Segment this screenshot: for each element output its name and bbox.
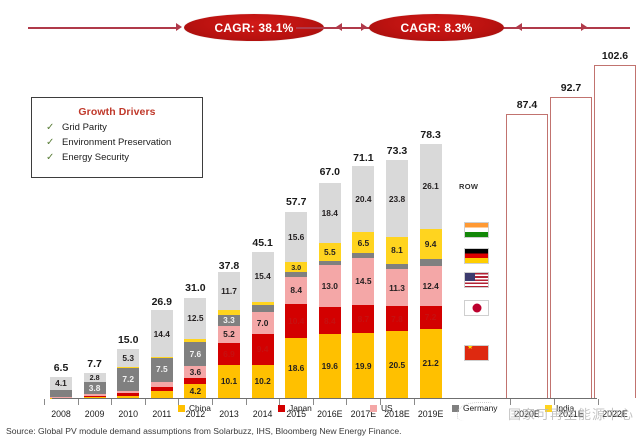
segment-value-label: 11.7 (221, 287, 237, 295)
segment-value-label: 14.5 (355, 277, 371, 285)
x-axis-line (52, 398, 597, 399)
bar-segment-2014-japan[interactable]: 9.4 (252, 334, 274, 365)
bar-2019E[interactable]: 21.27.212.49.426.1 (420, 144, 442, 398)
bar-2011[interactable]: 7.514.4 (151, 311, 173, 398)
bar-segment-2016E-india[interactable]: 5.5 (319, 243, 341, 261)
bar-segment-2013-row[interactable]: 11.7 (218, 272, 240, 310)
segment-value-label: 9.4 (425, 240, 437, 248)
segment-value-label: 3.3 (223, 316, 235, 324)
segment-value-label: 8.7 (358, 315, 370, 323)
bar-2016E[interactable]: 19.68.413.05.518.4 (319, 181, 341, 398)
segment-value-label: 10.4 (288, 317, 304, 325)
segment-value-label: 7.0 (257, 319, 269, 327)
segment-value-label: 20.5 (389, 361, 405, 369)
legend-item-us[interactable]: US (370, 403, 393, 413)
bar-segment-2015-row[interactable]: 15.6 (285, 212, 307, 263)
bar-segment-2018E-china[interactable]: 20.5 (386, 331, 408, 398)
watermark-swirl-icon (457, 402, 492, 421)
future-bar-2021E[interactable] (550, 97, 592, 398)
bar-total-2012: 31.0 (165, 282, 225, 294)
segment-value-label: 19.6 (322, 362, 338, 370)
bar-segment-2012-china[interactable]: 4.2 (184, 384, 206, 398)
bar-segment-2018E-germany[interactable] (386, 264, 408, 270)
bar-2017E[interactable]: 19.98.714.56.520.4 (352, 167, 374, 398)
legend-label-japan: Japan (289, 403, 312, 413)
segment-value-label: 3.6 (190, 368, 202, 376)
bar-segment-2011-row[interactable]: 14.4 (151, 310, 173, 357)
segment-value-label: 5.2 (223, 330, 235, 338)
segment-value-label: 11.3 (389, 284, 405, 292)
segment-value-label: 5.3 (122, 354, 134, 362)
bar-2012[interactable]: 4.23.67.612.5 (184, 297, 206, 398)
bar-segment-2014-china[interactable]: 10.2 (252, 365, 274, 398)
bar-segment-2016E-germany[interactable] (319, 261, 341, 265)
bar-2018E[interactable]: 20.57.811.38.123.8 (386, 160, 408, 398)
segment-value-label: 10.2 (254, 377, 270, 385)
segment-value-label: 8.4 (290, 286, 302, 294)
bar-segment-2014-germany[interactable] (252, 305, 274, 311)
segment-value-label: 6.5 (358, 239, 370, 247)
bar-total-2014: 45.1 (233, 237, 293, 249)
bar-total-2016E: 67.0 (300, 166, 360, 178)
bar-segment-2009-germany[interactable]: 3.8 (84, 382, 106, 394)
bar-segment-2019E-us[interactable]: 12.4 (420, 266, 442, 306)
japan-flag (464, 300, 489, 316)
bar-segment-2019E-china[interactable]: 21.2 (420, 329, 442, 398)
bar-segment-2019E-row[interactable]: 26.1 (420, 144, 442, 229)
segment-value-label: 8.4 (324, 317, 336, 325)
legend-item-china[interactable]: China (178, 403, 211, 413)
china-flag (464, 345, 489, 361)
segment-value-label: 10.1 (221, 377, 237, 385)
legend-label-china: China (189, 403, 211, 413)
bar-segment-2017E-japan[interactable]: 8.7 (352, 305, 374, 333)
bar-segment-2010-india[interactable] (117, 367, 139, 368)
bar-segment-2011-us[interactable] (151, 382, 173, 388)
row-callout-label: ROW (459, 182, 478, 191)
future-bar-total-2021E: 92.7 (541, 82, 601, 94)
bar-segment-2012-germany[interactable]: 7.6 (184, 342, 206, 367)
segment-value-label: 4.1 (55, 379, 67, 387)
bar-segment-2014-us[interactable]: 7.0 (252, 312, 274, 335)
bar-segment-2010-row[interactable]: 5.3 (117, 349, 139, 366)
bar-total-2019E: 78.3 (401, 129, 461, 141)
segment-value-label: 7.8 (391, 315, 403, 323)
bar-segment-2019E-japan[interactable]: 7.2 (420, 306, 442, 329)
bar-segment-2012-japan[interactable] (184, 378, 206, 384)
bar-total-2010: 15.0 (98, 334, 158, 346)
bar-segment-2015-india[interactable]: 3.0 (285, 262, 307, 272)
india-flag (464, 222, 489, 238)
bar-segment-2017E-us[interactable]: 14.5 (352, 258, 374, 305)
bar-segment-2016E-china[interactable]: 19.6 (319, 334, 341, 398)
segment-value-label: 23.8 (389, 195, 405, 203)
legend-swatch-japan-icon (278, 405, 285, 412)
bar-segment-2013-germany[interactable]: 3.3 (218, 315, 240, 326)
bar-segment-2010-us[interactable] (117, 391, 139, 394)
bar-segment-2015-china[interactable]: 18.6 (285, 338, 307, 398)
bar-segment-2015-germany[interactable] (285, 272, 307, 277)
bar-segment-2018E-india[interactable]: 8.1 (386, 237, 408, 263)
segment-value-label: 21.2 (422, 359, 438, 367)
bar-segment-2014-row[interactable]: 15.4 (252, 252, 274, 302)
legend-label-us: US (381, 403, 393, 413)
segment-value-label: 7.2 (122, 375, 134, 383)
bar-segment-2016E-row[interactable]: 18.4 (319, 183, 341, 243)
segment-value-label: 26.1 (422, 182, 438, 190)
segment-value-label: 15.4 (254, 272, 270, 280)
germany-flag (464, 248, 489, 264)
watermark-text: 国家可再生能源中心 (508, 404, 634, 423)
bar-segment-2013-india[interactable] (218, 310, 240, 316)
bar-segment-2017E-india[interactable]: 6.5 (352, 232, 374, 253)
us-flag (464, 272, 489, 288)
bar-total-2018E: 73.3 (367, 145, 427, 157)
legend-swatch-china-icon (178, 405, 185, 412)
bar-segment-2009-row[interactable]: 2.8 (84, 373, 106, 382)
segment-value-label: 12.5 (187, 314, 203, 322)
segment-value-label: 19.9 (355, 362, 371, 370)
bar-segment-2012-india[interactable] (184, 339, 206, 342)
segment-value-label: 20.4 (355, 195, 371, 203)
bar-segment-2016E-us[interactable]: 13.0 (319, 265, 341, 307)
segment-value-label: 18.6 (288, 364, 304, 372)
bar-segment-2017E-row[interactable]: 20.4 (352, 166, 374, 232)
bar-segment-2008-row[interactable]: 4.1 (50, 377, 72, 390)
future-bar-2020E[interactable] (506, 114, 548, 398)
segment-value-label: 9.4 (257, 345, 269, 353)
source-note: Source: Global PV module demand assumpti… (6, 426, 402, 436)
bar-2008[interactable]: 4.1 (50, 377, 72, 398)
bar-segment-2017E-germany[interactable] (352, 253, 374, 258)
bar-2014[interactable]: 10.29.47.015.4 (252, 252, 274, 398)
bar-segment-2008-germany[interactable] (50, 390, 72, 396)
future-bar-total-2020E: 87.4 (497, 99, 557, 111)
bar-segment-2017E-china[interactable]: 19.9 (352, 333, 374, 398)
bar-segment-2011-germany[interactable]: 7.5 (151, 357, 173, 381)
future-bar-2022E[interactable] (594, 65, 636, 398)
bar-segment-2016E-japan[interactable]: 8.4 (319, 307, 341, 334)
bar-segment-2013-us[interactable]: 5.2 (218, 326, 240, 343)
bar-segment-2014-india[interactable] (252, 302, 274, 306)
segment-value-label: 15.6 (288, 233, 304, 241)
bar-segment-2010-germany[interactable]: 7.2 (117, 367, 139, 390)
segment-value-label: 12.4 (422, 282, 438, 290)
segment-value-label: 7.2 (425, 313, 437, 321)
bar-segment-2019E-germany[interactable] (420, 259, 442, 265)
bar-segment-2013-japan[interactable]: 6.9 (218, 343, 240, 365)
segment-value-label: 3.8 (89, 384, 101, 392)
bar-total-2013: 37.8 (199, 260, 259, 272)
chart-canvas: CAGR: 38.1% CAGR: 8.3% Growth Drivers ✓ … (0, 0, 640, 441)
segment-value-label: 2.8 (90, 374, 100, 381)
bar-2013[interactable]: 10.16.95.23.311.7 (218, 275, 240, 398)
segment-value-label: 18.4 (322, 209, 338, 217)
bar-segment-2015-us[interactable]: 8.4 (285, 277, 307, 304)
legend-item-japan[interactable]: Japan (278, 403, 312, 413)
bar-segment-2009-us[interactable] (84, 394, 106, 395)
bar-segment-2015-japan[interactable]: 10.4 (285, 304, 307, 338)
bar-2009[interactable]: 3.82.8 (84, 373, 106, 398)
future-bar-total-2022E: 102.6 (585, 50, 640, 62)
bar-total-2009: 7.7 (65, 358, 125, 370)
bar-segment-2018E-row[interactable]: 23.8 (386, 160, 408, 237)
bar-segment-2011-japan[interactable] (151, 387, 173, 391)
segment-value-label: 5.5 (324, 248, 336, 256)
segment-value-label: 6.9 (223, 350, 235, 358)
segment-value-label: 8.1 (391, 246, 403, 254)
bar-2010[interactable]: 7.25.3 (117, 349, 139, 398)
bar-2015[interactable]: 18.610.48.43.015.6 (285, 211, 307, 398)
segment-value-label: 3.0 (291, 264, 301, 271)
bar-segment-2013-china[interactable]: 10.1 (218, 365, 240, 398)
bar-segment-2010-japan[interactable] (117, 393, 139, 396)
bar-total-2011: 26.9 (132, 296, 192, 308)
bar-segment-2012-row[interactable]: 12.5 (184, 298, 206, 339)
segment-value-label: 14.4 (154, 330, 170, 338)
segment-value-label: 7.5 (156, 365, 168, 373)
segment-value-label: 4.2 (190, 387, 202, 395)
segment-value-label: 7.6 (190, 350, 202, 358)
bar-segment-2018E-japan[interactable]: 7.8 (386, 306, 408, 331)
segment-value-label: 13.0 (322, 282, 338, 290)
bar-segment-2019E-india[interactable]: 9.4 (420, 229, 442, 260)
legend-swatch-us-icon (370, 405, 377, 412)
plot-area: 4.16.53.82.87.77.25.315.07.514.426.94.23… (0, 0, 640, 441)
bar-segment-2012-us[interactable]: 3.6 (184, 366, 206, 378)
bar-segment-2018E-us[interactable]: 11.3 (386, 269, 408, 306)
bar-total-2015: 57.7 (266, 196, 326, 208)
